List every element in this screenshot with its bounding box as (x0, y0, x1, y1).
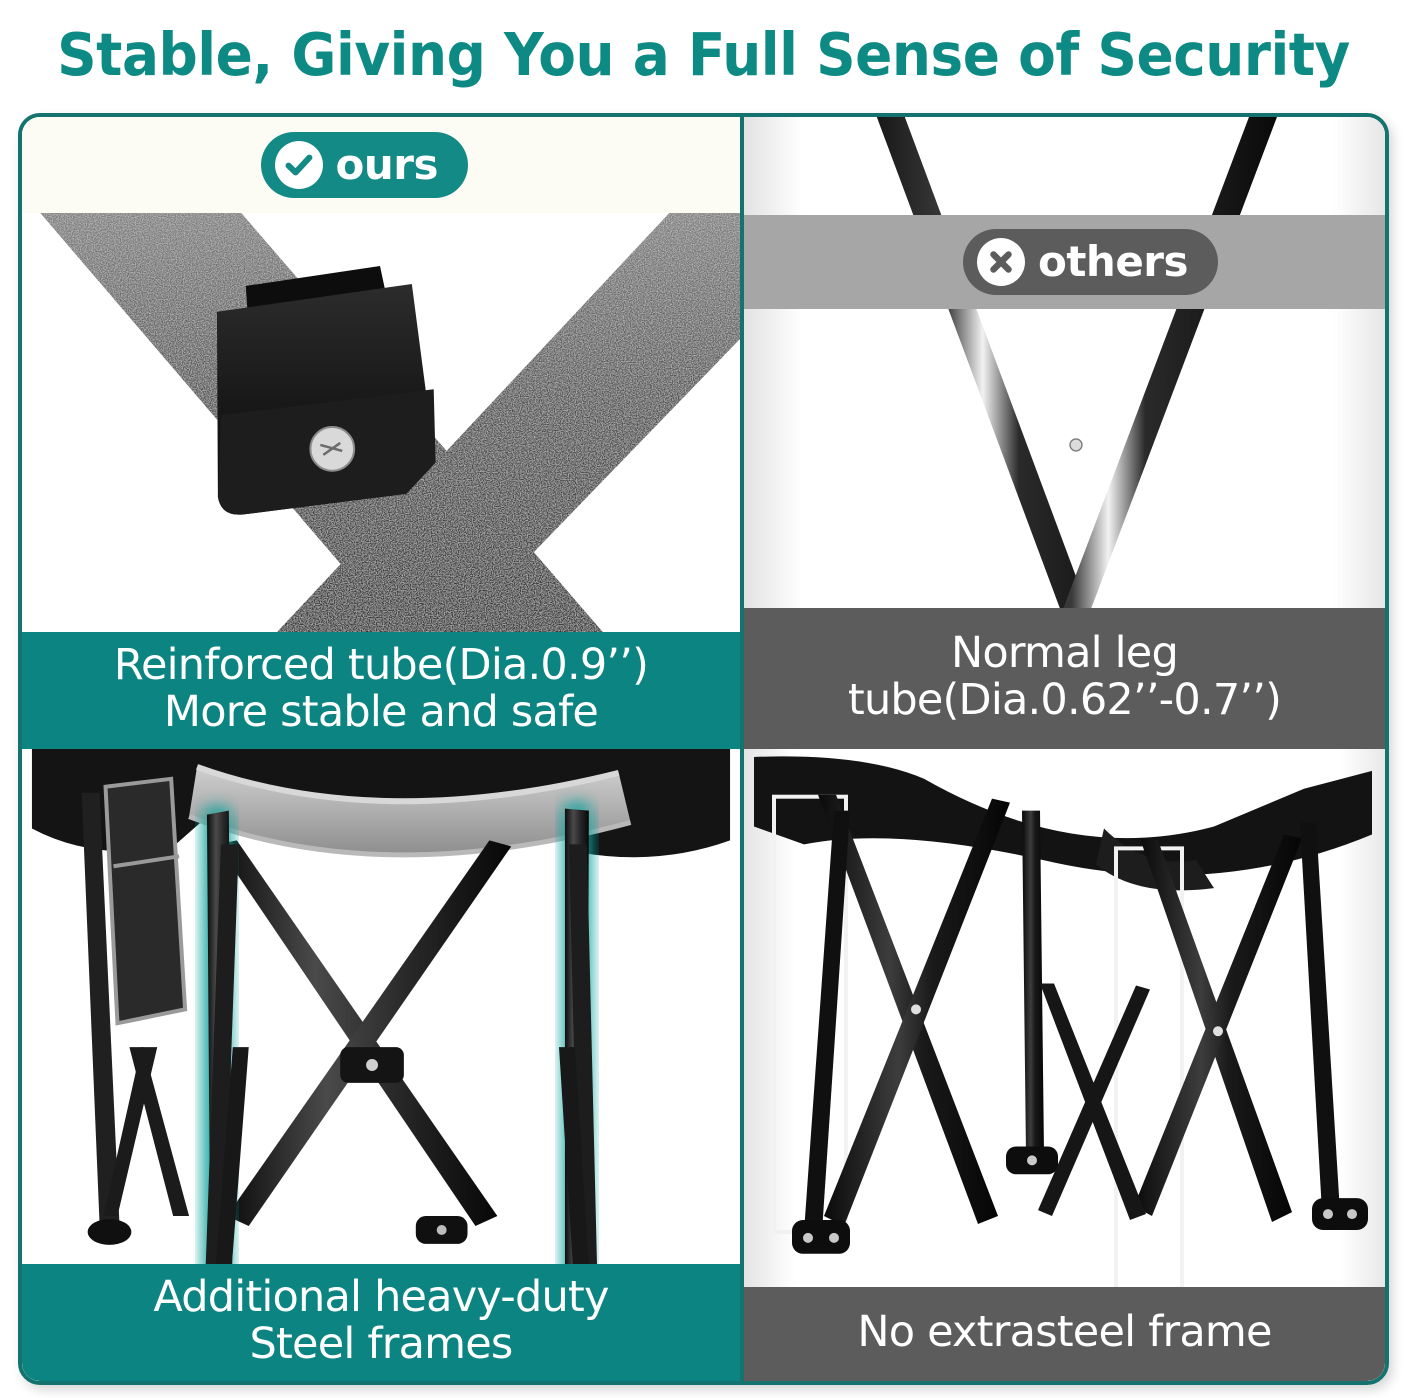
ours-bottom-cell: Additional heavy-duty Steel frames (22, 749, 744, 1381)
comparison-frame: ours Reinforced tube(Dia.0.9’’) More sta… (18, 113, 1389, 1385)
others-badge-label: others (1038, 241, 1188, 283)
ours-badge-label: ours (336, 144, 438, 186)
others-top-cell: others Normal leg tube(Dia.0.62’’-0.7’’) (744, 117, 1385, 749)
others-badge[interactable]: others (963, 229, 1218, 295)
comparison-grid: ours Reinforced tube(Dia.0.9’’) More sta… (22, 117, 1385, 1381)
ours-top-cell: ours Reinforced tube(Dia.0.9’’) More sta… (22, 117, 744, 749)
check-circle-icon (275, 141, 323, 189)
ours-bottom-caption: Additional heavy-duty Steel frames (22, 1264, 740, 1381)
page-title: Stable, Giving You a Full Sense of Secur… (49, 0, 1358, 108)
others-bottom-caption: No extrasteel frame (744, 1287, 1385, 1381)
others-bottom-cell: No extrasteel frame (744, 749, 1385, 1381)
x-circle-icon (977, 238, 1025, 286)
others-top-caption: Normal leg tube(Dia.0.62’’-0.7’’) (744, 608, 1385, 749)
ours-badge[interactable]: ours (261, 132, 468, 198)
ours-top-caption: Reinforced tube(Dia.0.9’’) More stable a… (22, 632, 740, 749)
